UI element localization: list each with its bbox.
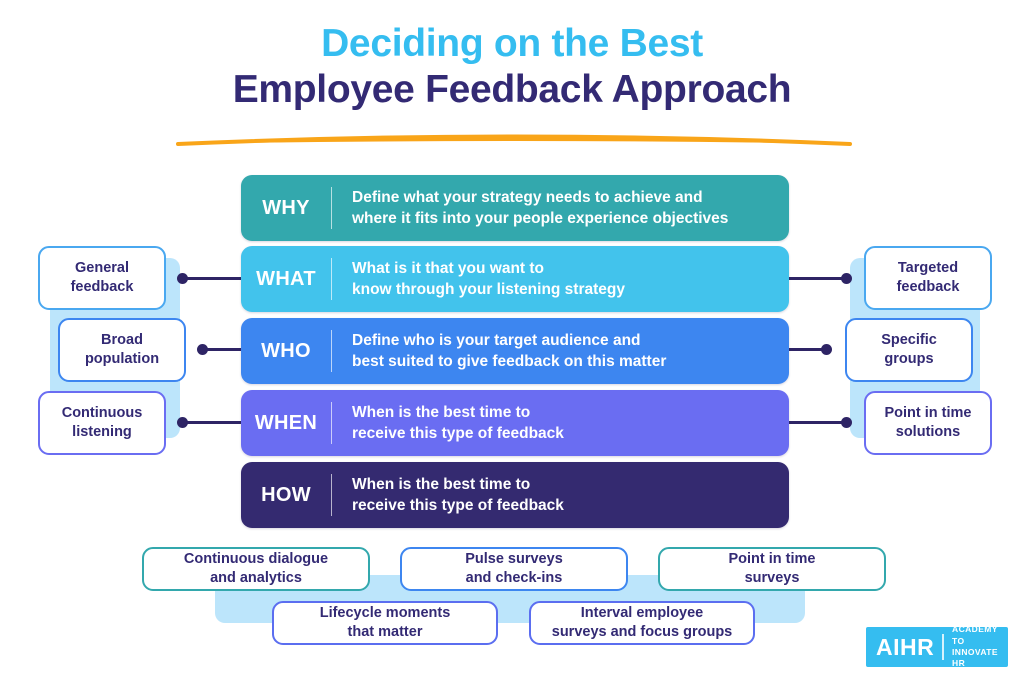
row-what-key: WHAT: [241, 268, 331, 291]
row-what-desc-line1: What is it that you want to: [352, 260, 544, 277]
bottom-bot-1-line1: Lifecycle moments: [320, 605, 451, 621]
row-why-desc-line2: where it fits into your people experienc…: [352, 210, 728, 227]
row-who[interactable]: WHO Define who is your target audience a…: [241, 318, 789, 384]
row-how-desc-line2: receive this type of feedback: [352, 497, 564, 514]
bottom-top-2-line2: and check-ins: [466, 570, 563, 586]
row-why-description: Define what your strategy needs to achie…: [332, 187, 728, 230]
left-card-1-line1: General: [75, 260, 129, 276]
left-connector-line-1: [184, 277, 242, 280]
row-why-key: WHY: [241, 197, 331, 220]
logo-tagline-line2: INNOVATE HR: [952, 647, 998, 668]
left-connector-line-3: [184, 421, 242, 424]
row-what-description: What is it that you want to know through…: [332, 258, 625, 301]
right-connector-line-1: [789, 277, 847, 280]
right-card-point-in-time-solutions[interactable]: Point in time solutions: [864, 391, 992, 455]
logo-wordmark: AIHR: [866, 634, 934, 661]
left-card-2-line2: population: [85, 351, 159, 367]
row-who-key: WHO: [241, 340, 331, 363]
left-card-3-line2: listening: [72, 424, 132, 440]
bottom-card-point-in-time-surveys[interactable]: Point in time surveys: [658, 547, 886, 591]
right-card-3-line2: solutions: [896, 424, 960, 440]
bottom-top-1-line2: and analytics: [210, 570, 302, 586]
left-card-2-line1: Broad: [101, 332, 143, 348]
aihr-logo[interactable]: AIHR ACADEMY TO INNOVATE HR: [866, 627, 1008, 667]
bottom-bot-1-line2: that matter: [348, 624, 423, 640]
left-card-broad-population[interactable]: Broad population: [58, 318, 186, 382]
left-card-continuous-listening[interactable]: Continuous listening: [38, 391, 166, 455]
left-connector-line-2: [204, 348, 242, 351]
row-when[interactable]: WHEN When is the best time to receive th…: [241, 390, 789, 456]
bottom-top-2-line1: Pulse surveys: [465, 551, 563, 567]
right-connector-line-3: [789, 421, 847, 424]
row-how-desc-line1: When is the best time to: [352, 476, 530, 493]
row-who-desc-line2: best suited to give feedback on this mat…: [352, 353, 666, 370]
logo-tagline: ACADEMY TO INNOVATE HR: [952, 624, 1008, 670]
bottom-card-pulse-surveys[interactable]: Pulse surveys and check-ins: [400, 547, 628, 591]
bottom-card-continuous-dialogue[interactable]: Continuous dialogue and analytics: [142, 547, 370, 591]
right-card-3-line1: Point in time: [885, 405, 972, 421]
bottom-card-interval-employee-surveys[interactable]: Interval employee surveys and focus grou…: [529, 601, 755, 645]
row-when-desc-line2: receive this type of feedback: [352, 425, 564, 442]
row-how[interactable]: HOW When is the best time to receive thi…: [241, 462, 789, 528]
title-line-2: Employee Feedback Approach: [0, 67, 1024, 114]
left-card-1-line2: feedback: [71, 279, 134, 295]
bottom-bot-2-line1: Interval employee: [581, 605, 704, 621]
right-card-1-line2: feedback: [897, 279, 960, 295]
page-title: Deciding on the Best Employee Feedback A…: [0, 22, 1024, 114]
right-card-1-line1: Targeted: [898, 260, 958, 276]
right-card-2-line1: Specific: [881, 332, 937, 348]
left-card-general-feedback[interactable]: General feedback: [38, 246, 166, 310]
left-card-3-line1: Continuous: [62, 405, 143, 421]
row-why-desc-line1: Define what your strategy needs to achie…: [352, 189, 703, 206]
title-line-1: Deciding on the Best: [0, 22, 1024, 67]
right-connector-dot-3: [841, 417, 852, 428]
row-when-key: WHEN: [241, 412, 331, 435]
logo-tagline-line1: ACADEMY TO: [952, 624, 998, 645]
row-how-description: When is the best time to receive this ty…: [332, 474, 564, 517]
title-underline-accent: [176, 126, 852, 152]
bottom-top-3-line2: surveys: [745, 570, 800, 586]
row-how-key: HOW: [241, 484, 331, 507]
right-card-targeted-feedback[interactable]: Targeted feedback: [864, 246, 992, 310]
bottom-card-lifecycle-moments[interactable]: Lifecycle moments that matter: [272, 601, 498, 645]
right-connector-dot-2: [821, 344, 832, 355]
right-connector-dot-1: [841, 273, 852, 284]
logo-divider: [942, 634, 944, 660]
row-what[interactable]: WHAT What is it that you want to know th…: [241, 246, 789, 312]
row-when-description: When is the best time to receive this ty…: [332, 402, 564, 445]
bottom-top-1-line1: Continuous dialogue: [184, 551, 328, 567]
row-why[interactable]: WHY Define what your strategy needs to a…: [241, 175, 789, 241]
row-who-description: Define who is your target audience and b…: [332, 330, 666, 373]
bottom-bot-2-line2: surveys and focus groups: [552, 624, 733, 640]
row-what-desc-line2: know through your listening strategy: [352, 281, 625, 298]
right-card-2-line2: groups: [884, 351, 933, 367]
right-card-specific-groups[interactable]: Specific groups: [845, 318, 973, 382]
bottom-top-3-line1: Point in time: [729, 551, 816, 567]
row-when-desc-line1: When is the best time to: [352, 404, 530, 421]
row-who-desc-line1: Define who is your target audience and: [352, 332, 641, 349]
